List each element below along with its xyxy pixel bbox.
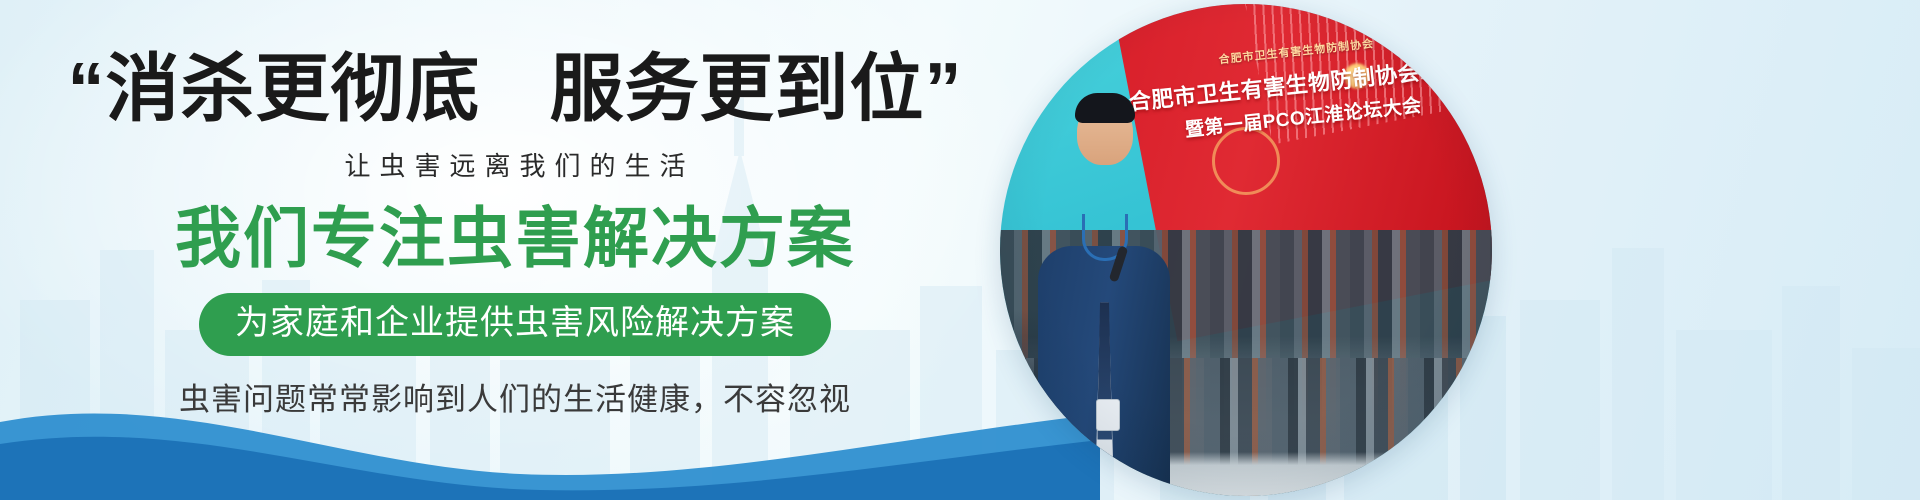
green-headline: 我们专注虫害解决方案: [175, 205, 855, 271]
headline-part-2: 服务更到位”: [550, 47, 963, 130]
promo-banner: “消杀更彻底 服务更到位” 让虫害远离我们的生活 我们专注虫害解决方案 为家庭和…: [0, 0, 1920, 500]
main-headline: “消杀更彻底 服务更到位”: [67, 52, 962, 126]
banner-copy: “消杀更彻底 服务更到位” 让虫害远离我们的生活 我们专注虫害解决方案 为家庭和…: [0, 0, 1030, 500]
solution-cta-button[interactable]: 为家庭和企业提供虫害风险解决方案: [199, 293, 831, 356]
conference-photo: 合肥市卫生有害生物防制协会 合肥市卫生有害生物防制协会2023 暨第一届PCO江…: [1000, 4, 1492, 496]
sub-headline: 让虫害远离我们的生活: [335, 146, 694, 183]
conference-photo-circle: 合肥市卫生有害生物防制协会 合肥市卫生有害生物防制协会2023 暨第一届PCO江…: [1000, 4, 1492, 496]
footer-note: 虫害问题常常影响到人们的生活健康，不容忽视: [179, 374, 851, 419]
headline-part-1: “消杀更彻底: [67, 47, 480, 130]
photo-vignette: [1000, 4, 1492, 496]
